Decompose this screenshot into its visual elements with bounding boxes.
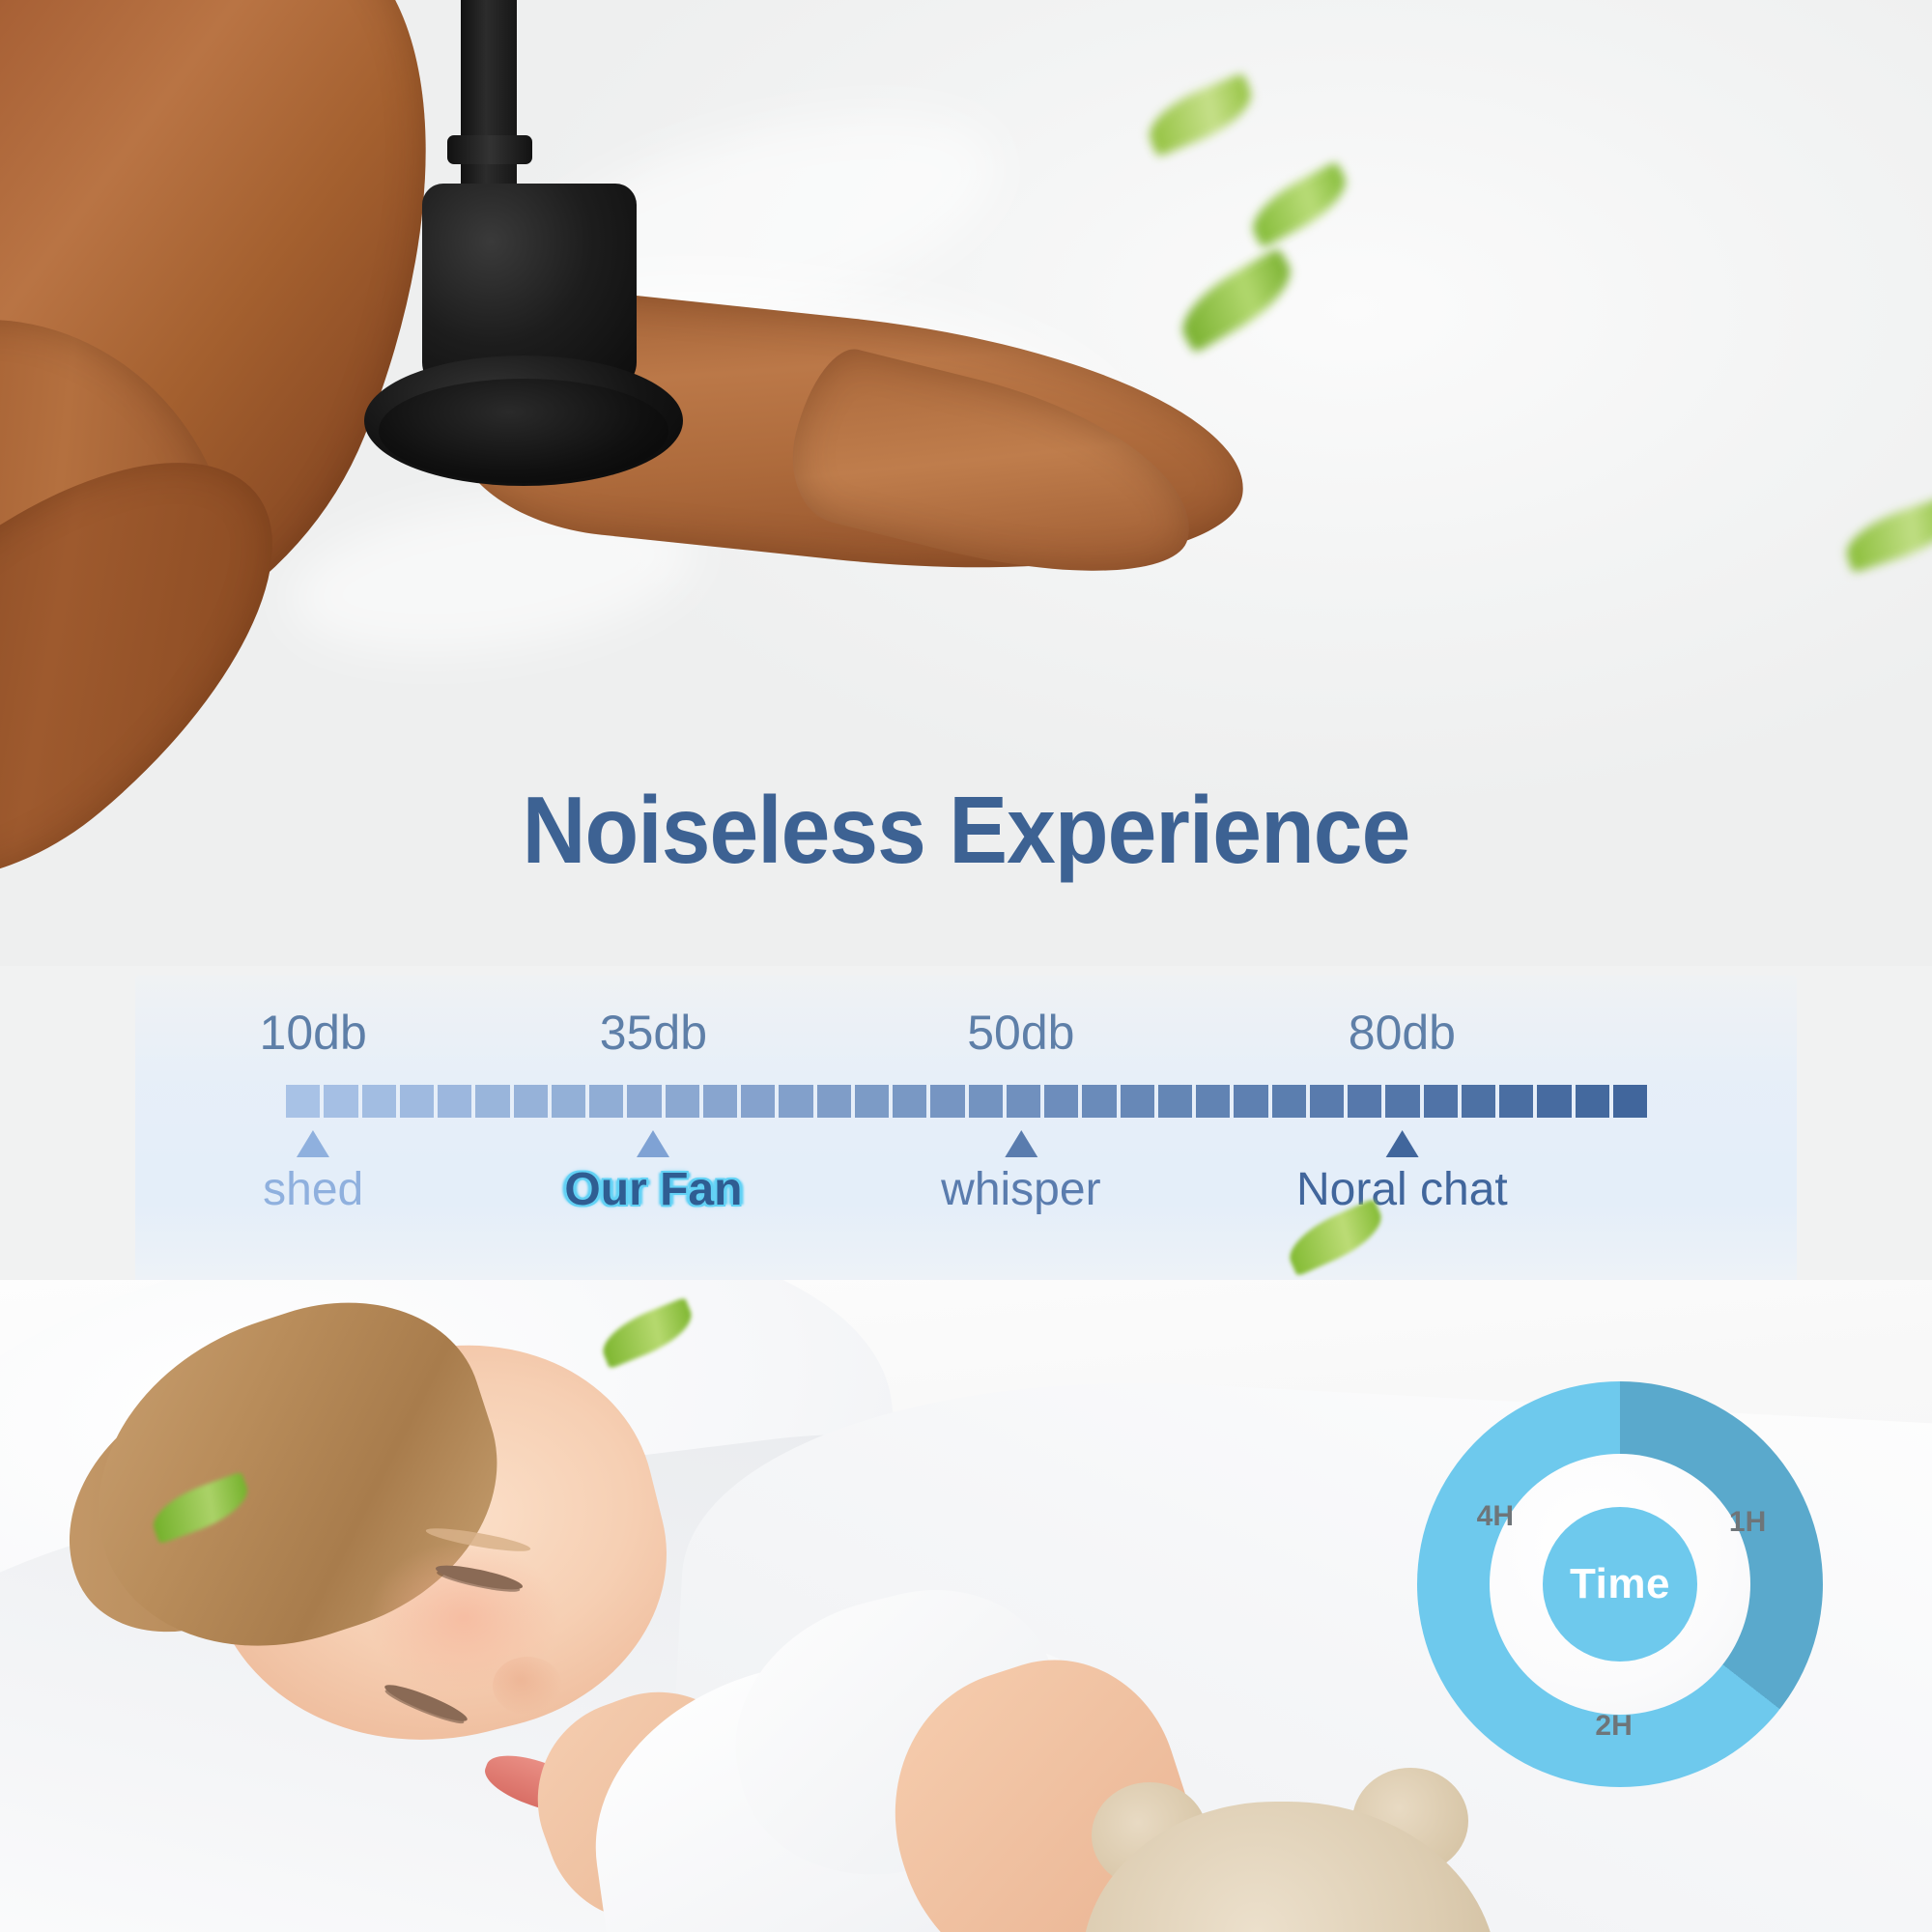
noise-bar-segment (1385, 1085, 1419, 1118)
noise-marker: Our Fan (564, 1130, 742, 1216)
noise-bar-segment (438, 1085, 471, 1118)
noise-bar-segment (475, 1085, 509, 1118)
timer-segment-label: 2H (1595, 1710, 1632, 1743)
noise-bar-segment (589, 1085, 623, 1118)
noise-bar-segment (893, 1085, 926, 1118)
noise-bar-segment (1576, 1085, 1609, 1118)
db-tick-label: 35db (600, 1005, 707, 1061)
noise-marker-label: whisper (941, 1163, 1100, 1216)
db-tick-label: 80db (1349, 1005, 1456, 1061)
noise-bar-segment (1310, 1085, 1344, 1118)
timer-donut-chart: Time 1H2H4H (1417, 1381, 1823, 1787)
noise-bar-segment (1082, 1085, 1116, 1118)
noise-bar-segment (1272, 1085, 1306, 1118)
marker-triangle-icon (1385, 1130, 1418, 1157)
noise-bar-segment (1348, 1085, 1381, 1118)
noise-bar-segment (400, 1085, 434, 1118)
noise-bar-segment (552, 1085, 585, 1118)
noise-bar-segment (627, 1085, 661, 1118)
marker-triangle-icon (297, 1130, 329, 1157)
noise-bar-segment (855, 1085, 889, 1118)
noise-bar-segment (324, 1085, 357, 1118)
noise-bar-segment (1196, 1085, 1230, 1118)
noise-bar-segment (1234, 1085, 1267, 1118)
marker-triangle-icon (637, 1130, 669, 1157)
noise-bar-segment (1462, 1085, 1495, 1118)
noise-marker-label: Our Fan (564, 1163, 742, 1216)
noise-bar-segment (930, 1085, 964, 1118)
noise-bar-segment (1007, 1085, 1040, 1118)
noise-bar-segment (703, 1085, 737, 1118)
timer-center: Time (1543, 1507, 1697, 1662)
noise-marker: whisper (941, 1130, 1100, 1216)
timer-center-label: Time (1570, 1560, 1670, 1608)
noise-bar-segment (817, 1085, 851, 1118)
noise-bar-segment (1424, 1085, 1458, 1118)
noise-marker-label: shed (263, 1163, 363, 1216)
fan-motor-disc-inner (379, 379, 668, 483)
page-title: Noiseless Experience (68, 782, 1864, 877)
noise-bar-segment (514, 1085, 548, 1118)
marker-triangle-icon (1005, 1130, 1037, 1157)
noise-bar-segment (1613, 1085, 1647, 1118)
noise-scale: 10db35db50db80db shedOur FanwhisperNoral… (0, 0, 1932, 348)
noise-bar-segment (362, 1085, 396, 1118)
db-tick-label: 10db (260, 1005, 367, 1061)
noise-bar-segment (1499, 1085, 1533, 1118)
noise-bar-segment (1158, 1085, 1192, 1118)
timer-segment-label: 4H (1477, 1500, 1514, 1533)
noise-bar-segment (969, 1085, 1003, 1118)
noise-bar-segment (666, 1085, 699, 1118)
noise-marker-label: Noral chat (1296, 1163, 1508, 1216)
db-tick-label: 50db (967, 1005, 1074, 1061)
noise-bar-segment (286, 1085, 320, 1118)
noise-marker: shed (263, 1130, 363, 1216)
noise-level-bar (286, 1085, 1647, 1118)
noise-bar-segment (779, 1085, 812, 1118)
noise-bar-segment (1537, 1085, 1571, 1118)
timer-segment-label: 1H (1729, 1506, 1766, 1539)
noise-bar-segment (741, 1085, 775, 1118)
child-nose (493, 1657, 562, 1715)
noise-bar-segment (1121, 1085, 1154, 1118)
noise-bar-segment (1044, 1085, 1078, 1118)
noise-marker: Noral chat (1296, 1130, 1508, 1216)
marketing-image: Noiseless Experience 10db35db50db80db sh… (0, 0, 1932, 1932)
